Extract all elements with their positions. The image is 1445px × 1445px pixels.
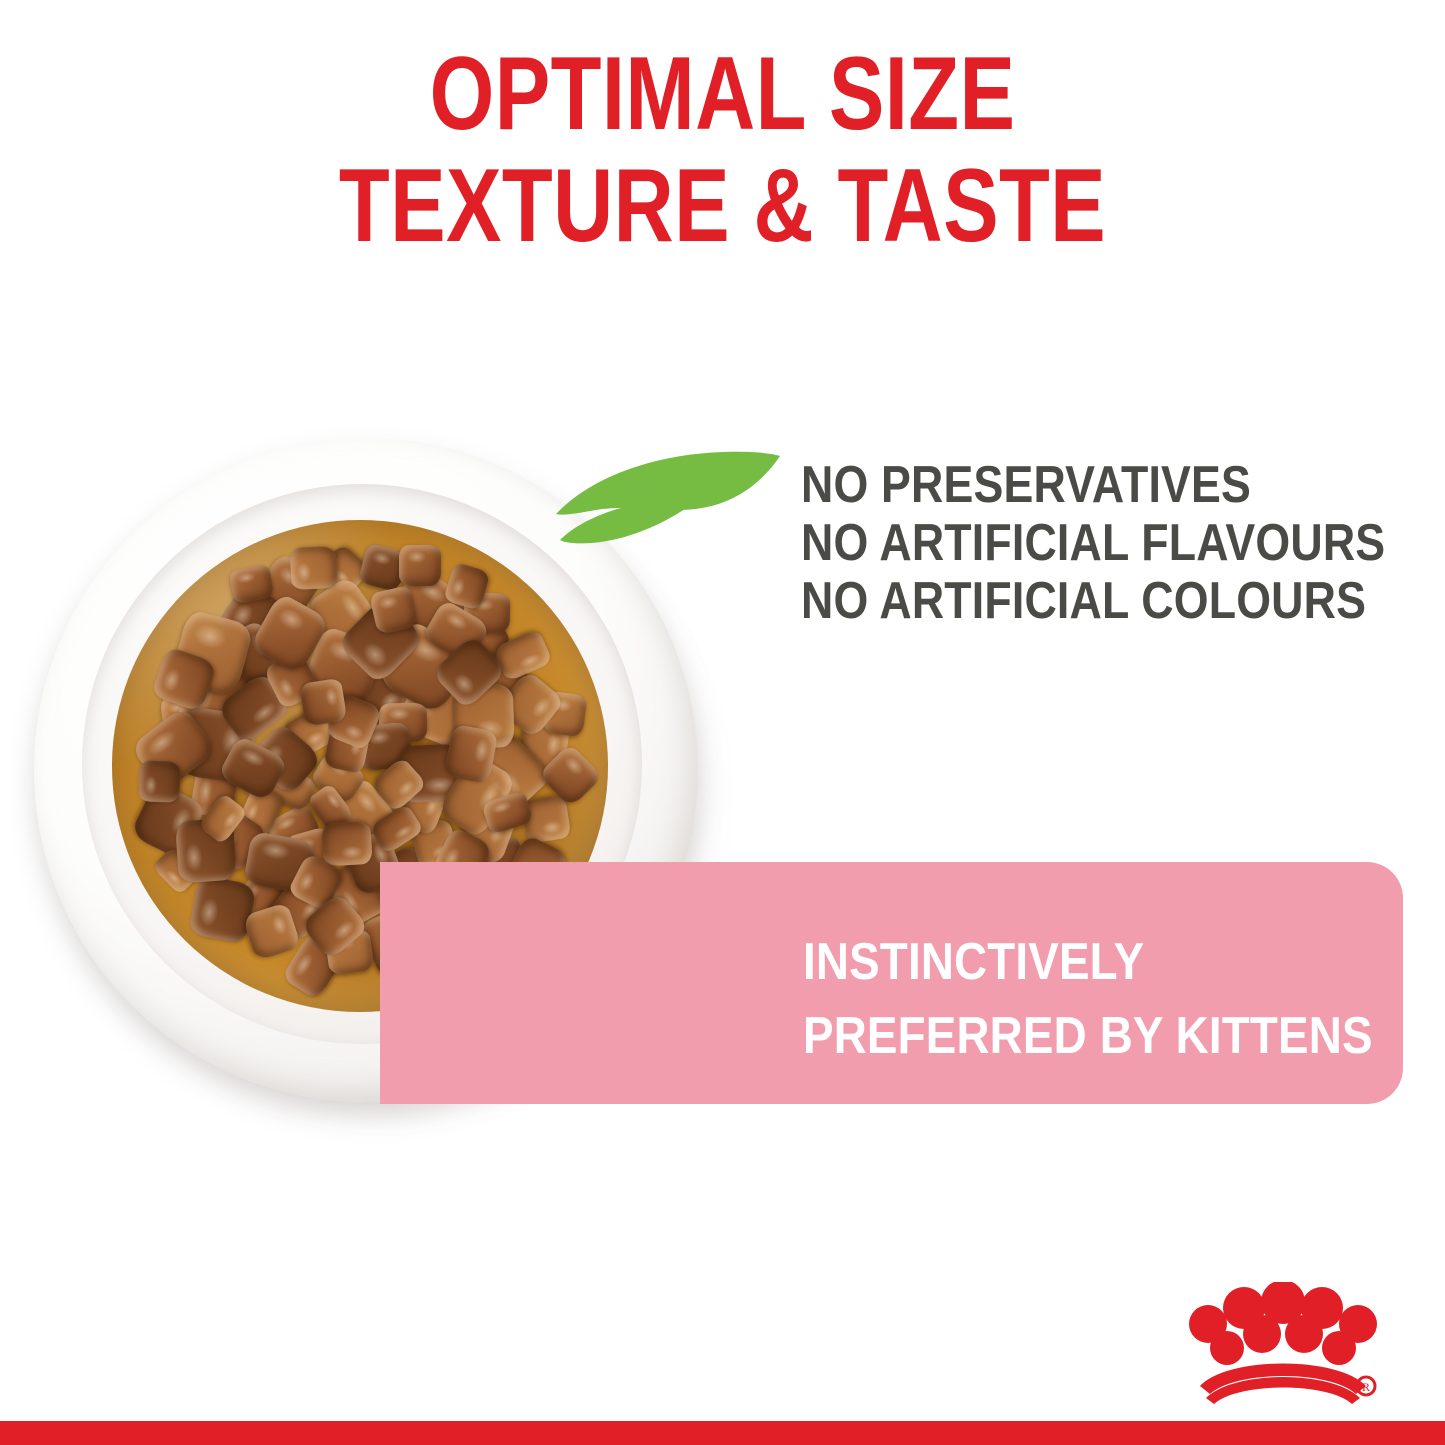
banner-line-1: INSTINCTIVELY	[803, 926, 1373, 1000]
claims-text-block: NO PRESERVATIVES NO ARTIFICIAL FLAVOURS …	[801, 456, 1385, 631]
meat-chunk	[399, 545, 441, 586]
preference-banner-text: INSTINCTIVELY PREFERRED BY KITTENS	[803, 926, 1373, 1074]
banner-line-2: PREFERRED BY KITTENS	[803, 1000, 1373, 1074]
claim-line-2: NO ARTIFICIAL FLAVOURS	[801, 514, 1385, 572]
claim-line-1: NO PRESERVATIVES	[801, 456, 1385, 514]
svg-text:R: R	[1362, 1380, 1370, 1394]
headline-line-1: OPTIMAL SIZE	[145, 38, 1301, 150]
meat-chunk	[322, 821, 373, 867]
meat-chunk	[289, 546, 337, 590]
page-title: OPTIMAL SIZE TEXTURE & TASTE	[145, 38, 1301, 263]
claim-line-3: NO ARTIFICIAL COLOURS	[801, 572, 1385, 630]
meat-chunk	[299, 678, 347, 727]
meat-chunk	[188, 874, 256, 944]
marketing-image-canvas: OPTIMAL SIZE TEXTURE & TASTE NO PRESERVA…	[0, 0, 1445, 1445]
royal-canin-crown-logo: R	[1188, 1282, 1378, 1404]
headline-line-2: TEXTURE & TASTE	[145, 150, 1301, 262]
meat-chunk	[138, 760, 181, 802]
bottom-red-bar	[0, 1421, 1445, 1445]
leaf-icon	[552, 436, 782, 556]
